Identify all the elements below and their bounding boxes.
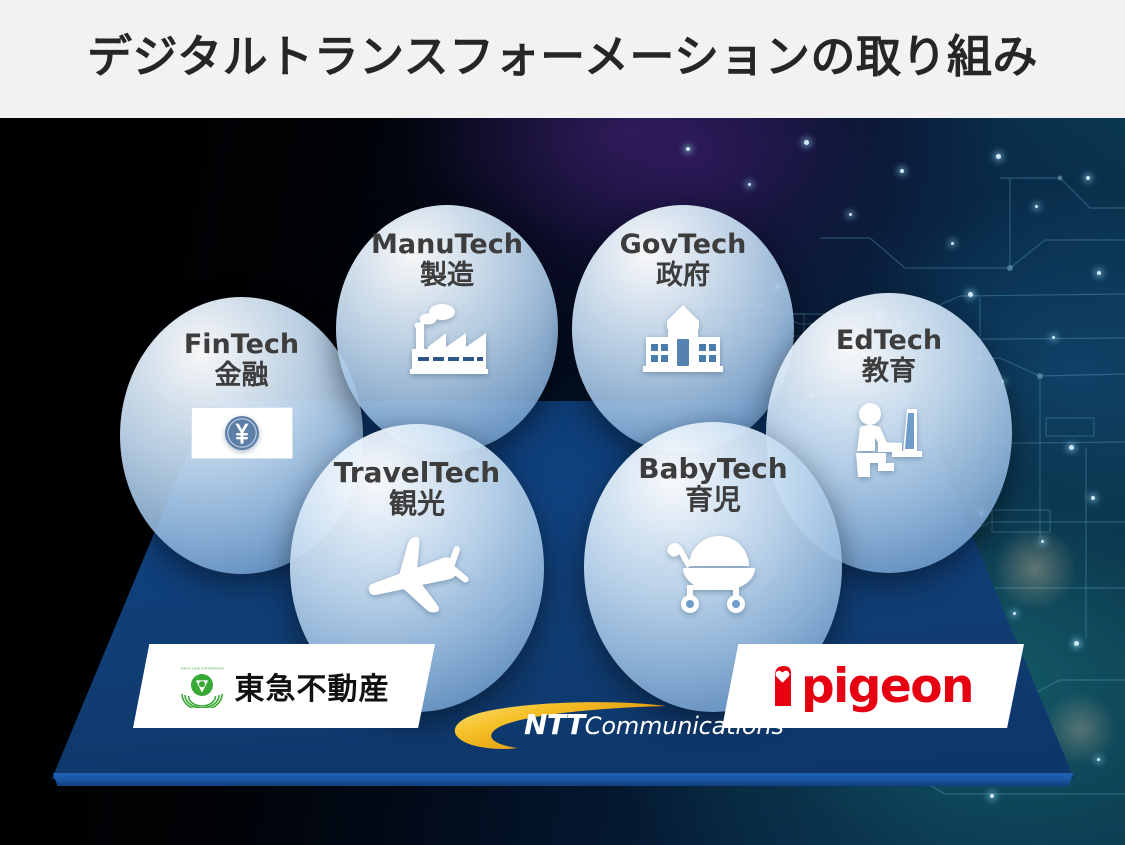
sphere-govtech[interactable]: GovTech 政府 <box>572 205 794 453</box>
ntt-communications-logo: NTTCommunications <box>452 701 684 753</box>
page-title: デジタルトランスフォーメーションの取り組み <box>87 34 1038 79</box>
partner-logo-tokyu-name: 東急不動産 <box>235 664 390 708</box>
ntt-logo-text: NTTCommunications <box>524 711 784 739</box>
sphere-manutech-label-en: ManuTech <box>371 231 523 259</box>
slide-title-bar: デジタルトランスフォーメーションの取り組み <box>0 0 1125 118</box>
person-at-computer-icon <box>848 401 930 479</box>
partner-logo-panel-tokyu[interactable]: TOKYU LAND CORPORATION 東急不動産 <box>133 644 435 728</box>
sphere-govtech-label-en: GovTech <box>620 231 747 259</box>
sphere-manutech[interactable]: ManuTech 製造 <box>336 205 558 453</box>
sphere-edtech-label-en: EdTech <box>836 327 942 355</box>
yen-banknote-icon <box>191 407 293 459</box>
sphere-babytech-label-ja: 育児 <box>685 485 741 516</box>
partner-logo-pigeon-name: pigeon <box>801 663 973 710</box>
tokyu-land-emblem-icon: TOKYU LAND CORPORATION <box>179 664 225 708</box>
sphere-traveltech-label-en: TravelTech <box>334 458 500 487</box>
sphere-govtech-label-ja: 政府 <box>656 261 710 291</box>
sphere-fintech-label-ja: 金融 <box>215 361 269 391</box>
tokyu-emblem-ring-text: TOKYU LAND CORPORATION <box>180 666 223 670</box>
ntt-logo-light-text: Communications <box>585 712 784 740</box>
sphere-manutech-label-ja: 製造 <box>420 261 474 291</box>
slide-root: デジタルトランスフォーメーションの取り組み <box>0 0 1125 845</box>
airplane-icon <box>362 534 472 620</box>
sphere-babytech-label-en: BabyTech <box>638 454 787 483</box>
slide-body: FinTech 金融 <box>0 118 1125 845</box>
sphere-traveltech-label-ja: 観光 <box>389 489 445 520</box>
sphere-edtech-label-ja: 教育 <box>862 357 916 387</box>
platform-front-edge <box>0 773 1125 786</box>
banknote-shape <box>191 407 293 459</box>
baby-stroller-icon <box>665 530 761 614</box>
sphere-fintech-label-en: FinTech <box>184 331 299 359</box>
factory-icon <box>404 303 490 375</box>
pigeon-logo-lockup: pigeon <box>773 663 973 710</box>
tokyu-logo-lockup: TOKYU LAND CORPORATION 東急不動産 <box>179 664 390 708</box>
government-building-icon <box>640 303 726 375</box>
pigeon-heart-mark-icon <box>773 663 803 709</box>
ntt-logo-bold-text: NTT <box>524 708 585 741</box>
